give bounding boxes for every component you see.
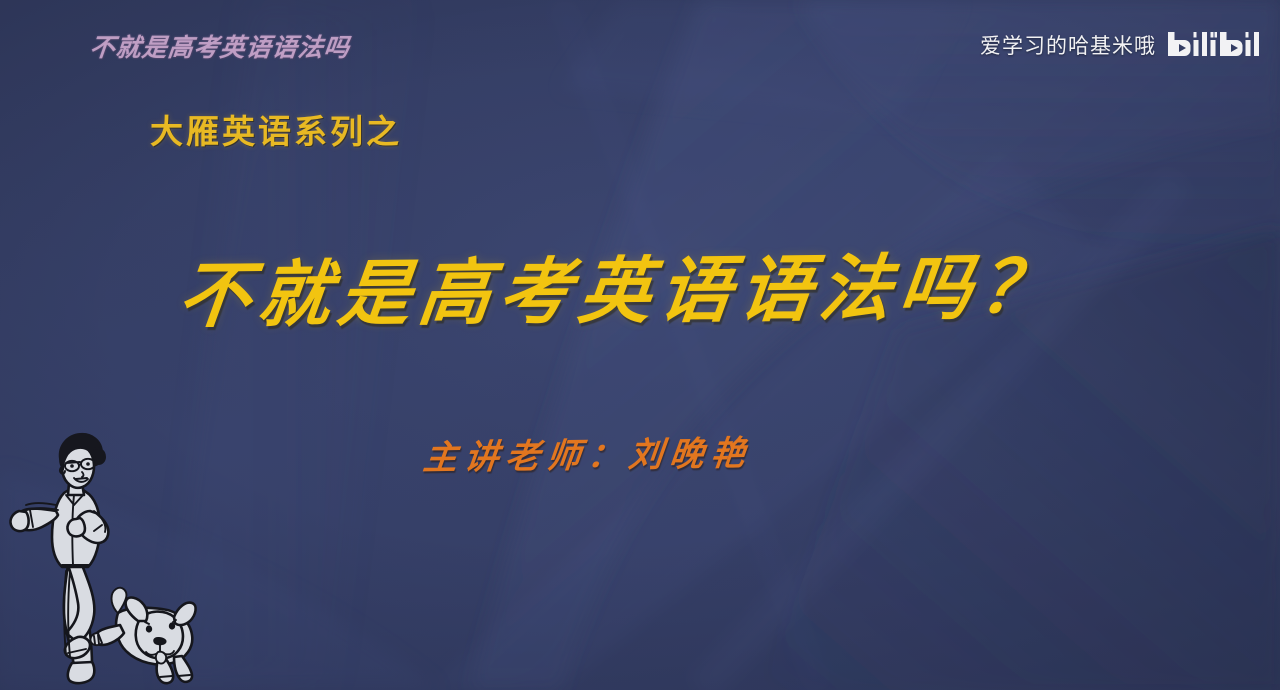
watermark-text: 不就是高考英语语法吗: [88, 28, 352, 64]
dog-figure: [90, 588, 195, 683]
channel-watermark-group: 爱学习的哈基米哦: [980, 28, 1262, 62]
teacher-credit: 主讲老师：刘晚艳: [421, 426, 755, 480]
page-title: 不就是高考英语语法吗？: [174, 227, 1067, 341]
bilibili-logo-icon: [1166, 28, 1262, 62]
illustration-jogger-and-dog: .ln { fill:none; stroke:#15161c; stroke-…: [6, 415, 216, 685]
video-frame: 不就是高考英语语法吗 爱学习的哈基米哦: [0, 0, 1280, 690]
jogger-figure: [10, 434, 108, 683]
channel-name: 爱学习的哈基米哦: [980, 30, 1156, 60]
series-label: 大雁英语系列之: [150, 105, 402, 153]
